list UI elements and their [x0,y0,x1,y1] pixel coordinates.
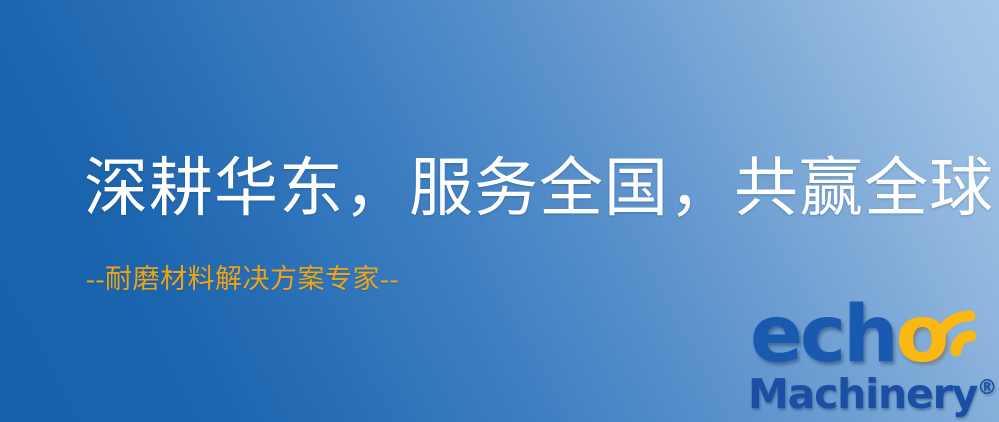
logo-tagline: Machinery® [748,364,997,417]
logo-wordmark: echo [750,296,946,374]
hero-banner: 深耕华东，服务全国，共赢全球 --耐磨材料解决方案专家-- echo Machi… [0,0,999,422]
company-logo[interactable]: echo Machinery® [742,296,994,420]
logo-tagline-text: Machinery [748,370,977,418]
page-subtitle: --耐磨材料解决方案专家-- [86,262,399,296]
signal-waves-icon [928,294,992,356]
page-title: 深耕华东，服务全国，共赢全球 [84,150,944,228]
registered-trademark-icon: ® [977,375,997,399]
